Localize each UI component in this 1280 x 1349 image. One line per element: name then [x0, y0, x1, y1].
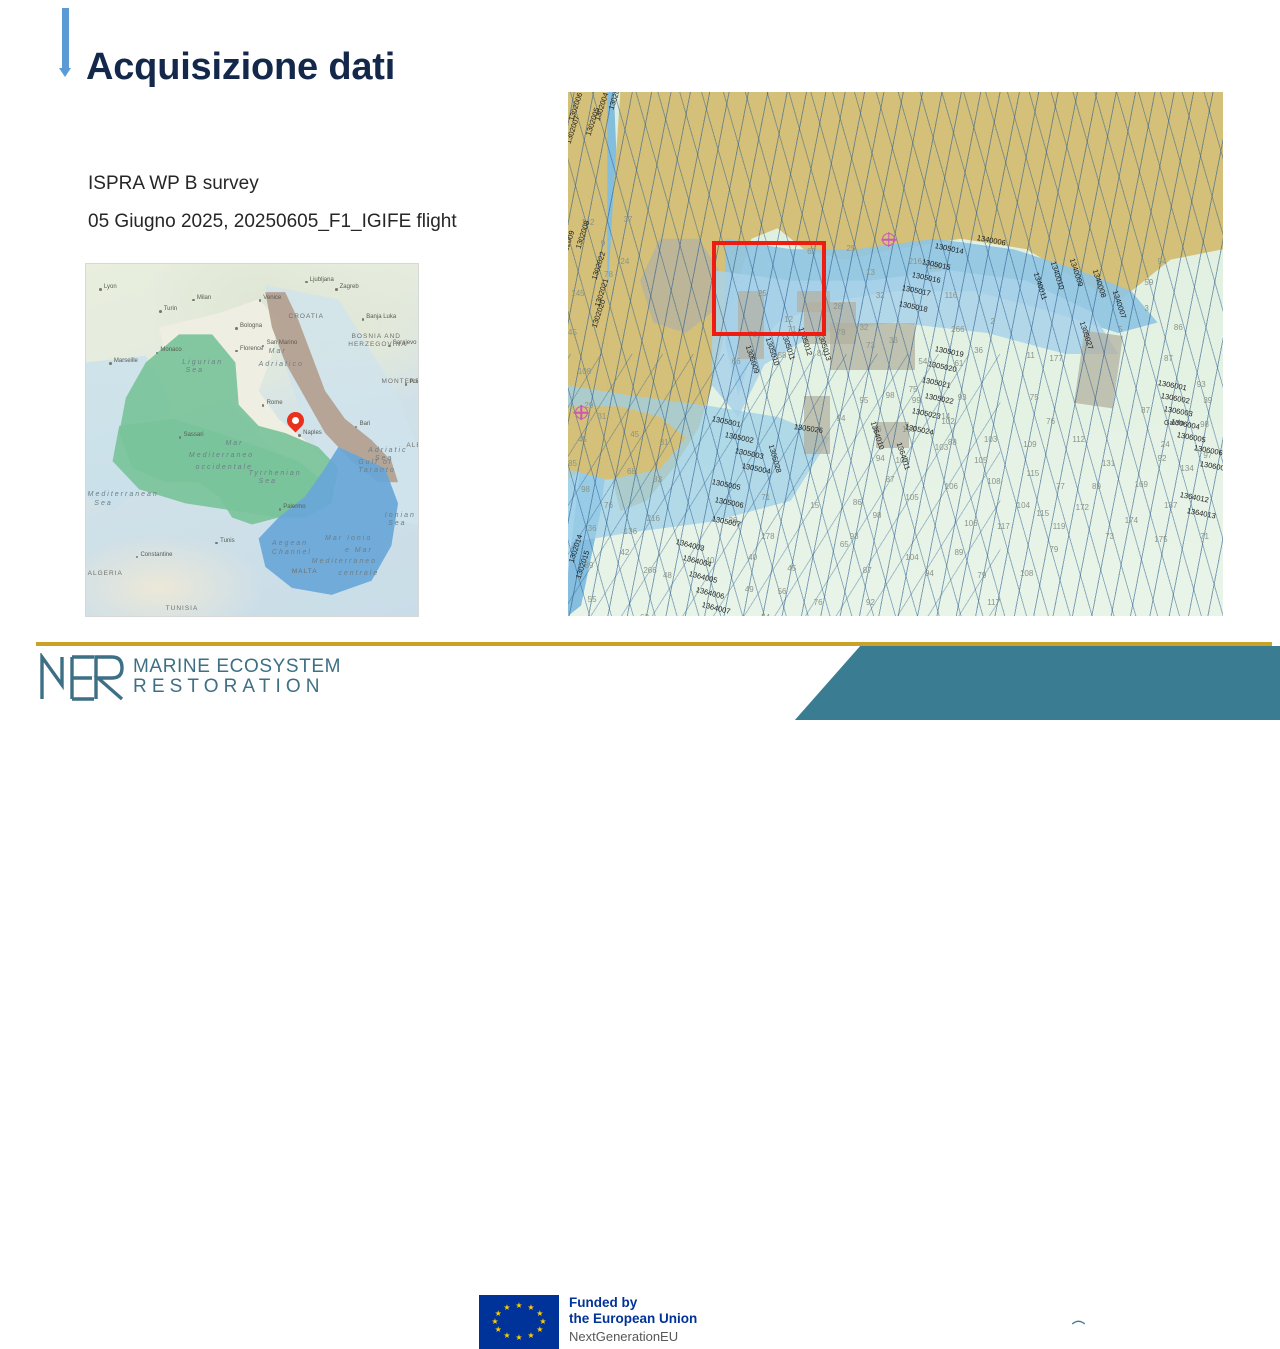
survey-roi-rectangle — [712, 241, 826, 336]
map-city-dot — [159, 310, 162, 313]
ispra-text: ISPRA Istituto Superiore per la Protezio… — [1097, 1304, 1168, 1340]
page-title: Acquisizione dati — [86, 48, 395, 86]
mer-logo: MARINE ECOSYSTEM RESTORATION — [36, 653, 341, 701]
eu-star-icon: ★ — [527, 1304, 534, 1312]
eu-star-icon: ★ — [539, 1318, 546, 1326]
snpa-caption: Sistema Nazionale per la Protezione dell… — [1182, 1321, 1244, 1340]
eu-star-icon: ★ — [495, 1326, 502, 1334]
mer-wordmark: MARINE ECOSYSTEM RESTORATION — [133, 657, 341, 697]
map-city-dot — [109, 362, 112, 365]
map-city-dot — [335, 288, 338, 291]
snpa-caption-line-3: dell'Ambiente — [1182, 1334, 1244, 1340]
eu-funding-line-1: Funded by — [569, 1295, 697, 1311]
eu-star-icon: ★ — [495, 1310, 502, 1318]
nautical-chart-image: 1423792478145451082931458598763689554568… — [568, 92, 1223, 616]
body-text-line-2: 05 Giugno 2025, 20250605_F1_IGIFE flight — [88, 210, 457, 234]
title-accent-arrow-icon — [59, 68, 71, 77]
compass-rose-icon-2 — [575, 406, 588, 419]
eu-star-icon: ★ — [515, 1334, 522, 1342]
eu-star-icon: ★ — [527, 1332, 534, 1340]
map-city-dot — [259, 299, 262, 302]
ispra-name: ISPRA — [1097, 1304, 1168, 1323]
map-city-dot — [388, 345, 391, 348]
eu-star-icon: ★ — [503, 1304, 510, 1312]
title-accent-bar — [62, 8, 69, 70]
map-city-dot — [298, 434, 301, 437]
ispra-subtitle-line-2: e la Ricerca Ambientale — [1097, 1334, 1168, 1341]
mer-wordmark-line-1: MARINE ECOSYSTEM — [133, 657, 341, 677]
map-city-dot — [405, 383, 408, 386]
map-city-dot — [279, 508, 282, 511]
locator-map-image: MarAdriaticoMarMediterraneooccidentaleMa… — [85, 263, 419, 617]
eu-star-icon: ★ — [536, 1310, 543, 1318]
eu-funding-line-2: the European Union — [569, 1311, 697, 1327]
footer-gold-rule — [36, 642, 1272, 646]
eu-funding-text: Funded by the European Union NextGenerat… — [569, 1295, 697, 1345]
mer-monogram-icon — [36, 653, 124, 701]
eu-star-icon: ★ — [491, 1318, 498, 1326]
map-city-dot — [235, 327, 238, 330]
map-city-dot — [362, 318, 365, 321]
ispra-subtitle-line-1: Istituto Superiore per la Protezione — [1097, 1325, 1168, 1332]
eu-flag-icon: ★★★★★★★★★★★★ — [479, 1295, 559, 1349]
map-city-dot — [99, 288, 102, 291]
slide-footer: MARINE ECOSYSTEM RESTORATION ★★★★★★★★★★★… — [0, 637, 1280, 720]
mer-wordmark-line-2: RESTORATION — [133, 677, 341, 697]
body-text-line-1: ISPRA WP B survey — [88, 172, 259, 196]
eu-funding-line-3: NextGenerationEU — [569, 1328, 697, 1346]
eu-funding-logo: ★★★★★★★★★★★★ Funded by the European Unio… — [479, 1295, 697, 1349]
eu-star-icon: ★ — [515, 1302, 522, 1310]
eu-star-icon: ★ — [503, 1332, 510, 1340]
ispra-mark-icon — [1065, 1306, 1092, 1333]
ispra-logo: ISPRA Istituto Superiore per la Protezio… — [1065, 1304, 1168, 1340]
eu-star-icon: ★ — [536, 1326, 543, 1334]
